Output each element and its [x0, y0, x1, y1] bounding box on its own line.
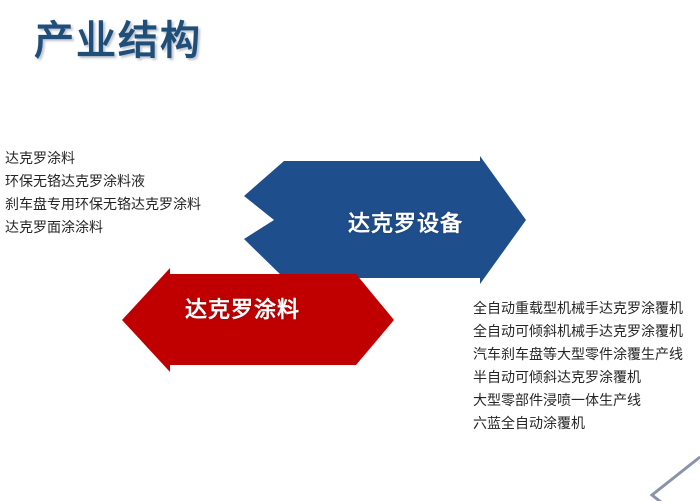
- list-item: 大型零部件浸喷一体生产线: [473, 389, 683, 412]
- list-item: 达克罗涂料: [5, 147, 201, 170]
- corner-chevron-icon: [612, 451, 700, 501]
- list-item: 半自动可倾斜达克罗涂覆机: [473, 366, 683, 389]
- left-product-list: 达克罗涂料 环保无铬达克罗涂料液 刹车盘专用环保无铬达克罗涂料 达克罗面涂涂料: [5, 147, 201, 239]
- list-item: 六蓝全自动涂覆机: [473, 412, 683, 435]
- blue-arrow-label: 达克罗设备: [348, 206, 463, 238]
- list-item: 全自动重载型机械手达克罗涂覆机: [473, 297, 683, 320]
- list-item: 环保无铬达克罗涂料液: [5, 170, 201, 193]
- list-item: 达克罗面涂涂料: [5, 216, 201, 239]
- list-item: 刹车盘专用环保无铬达克罗涂料: [5, 193, 201, 216]
- list-item: 全自动可倾斜机械手达克罗涂覆机: [473, 320, 683, 343]
- slide-canvas: 产业结构 达克罗涂料 环保无铬达克罗涂料液 刹车盘专用环保无铬达克罗涂料 达克罗…: [0, 0, 700, 501]
- list-item: 汽车刹车盘等大型零件涂覆生产线: [473, 343, 683, 366]
- red-arrow-label: 达克罗涂料: [185, 292, 300, 324]
- page-title: 产业结构: [34, 18, 202, 64]
- right-product-list: 全自动重载型机械手达克罗涂覆机 全自动可倾斜机械手达克罗涂覆机 汽车刹车盘等大型…: [473, 297, 683, 435]
